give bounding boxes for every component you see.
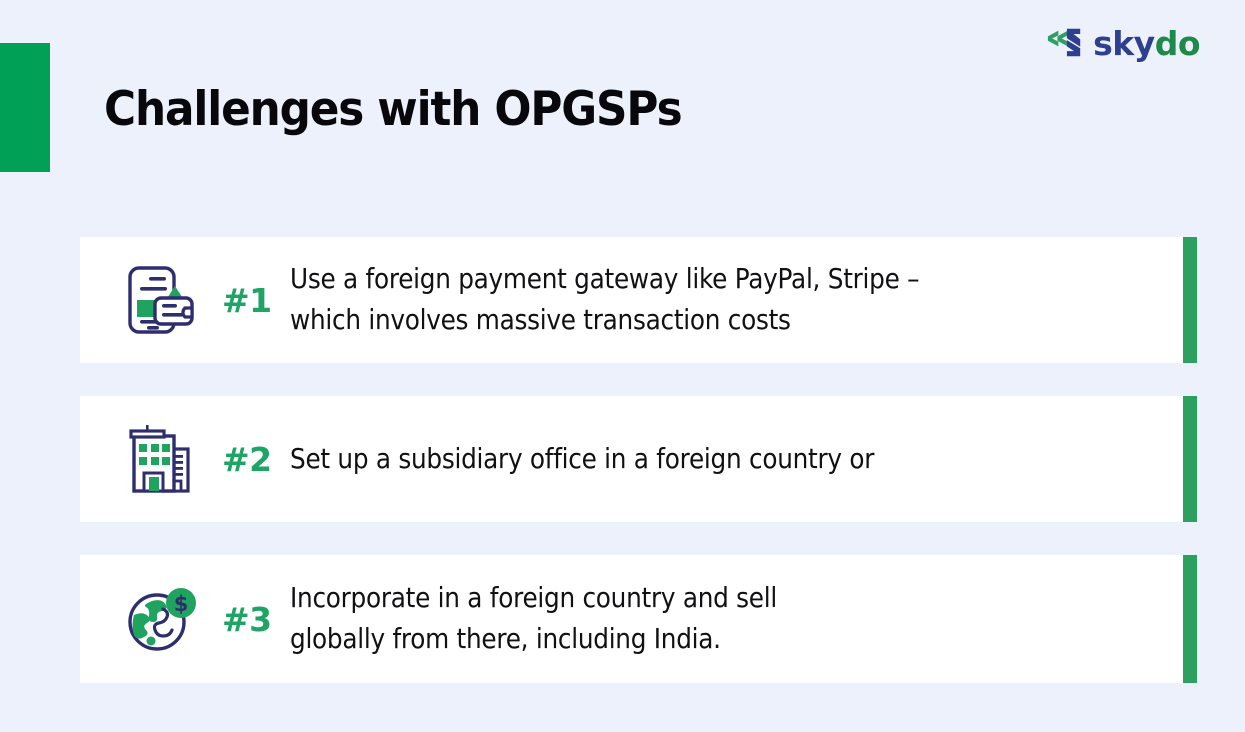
page-title: Challenges with OPGSPs bbox=[104, 82, 681, 138]
skydo-logo: skydo bbox=[1046, 26, 1200, 60]
item-text: Incorporate in a foreign country and sel… bbox=[290, 578, 1106, 659]
office-building-icon bbox=[118, 419, 204, 499]
item-text: Use a foreign payment gateway like PayPa… bbox=[290, 259, 1106, 340]
logo-word-sky: sky bbox=[1093, 24, 1155, 63]
logo-word-do: do bbox=[1155, 24, 1200, 63]
card-accent-bar bbox=[1183, 396, 1197, 522]
skydo-wordmark: skydo bbox=[1093, 27, 1200, 60]
list-item: #2 Set up a subsidiary office in a forei… bbox=[80, 396, 1197, 522]
card-accent-bar bbox=[1183, 555, 1197, 683]
mobile-payment-card-icon bbox=[118, 260, 204, 340]
challenges-list: #1 Use a foreign payment gateway like Pa… bbox=[80, 237, 1197, 683]
item-number: #3 bbox=[204, 603, 290, 636]
list-item: $ #3 Incorporate in a foreign country an… bbox=[80, 555, 1197, 683]
skydo-chevron-mark bbox=[1046, 26, 1084, 60]
globe-dollar-icon: $ bbox=[118, 579, 204, 659]
green-accent-block bbox=[0, 43, 50, 172]
item-text: Set up a subsidiary office in a foreign … bbox=[290, 439, 1106, 480]
item-number: #1 bbox=[204, 284, 290, 317]
list-item: #1 Use a foreign payment gateway like Pa… bbox=[80, 237, 1197, 363]
svg-text:$: $ bbox=[174, 592, 189, 616]
card-accent-bar bbox=[1183, 237, 1197, 363]
item-number: #2 bbox=[204, 443, 290, 476]
